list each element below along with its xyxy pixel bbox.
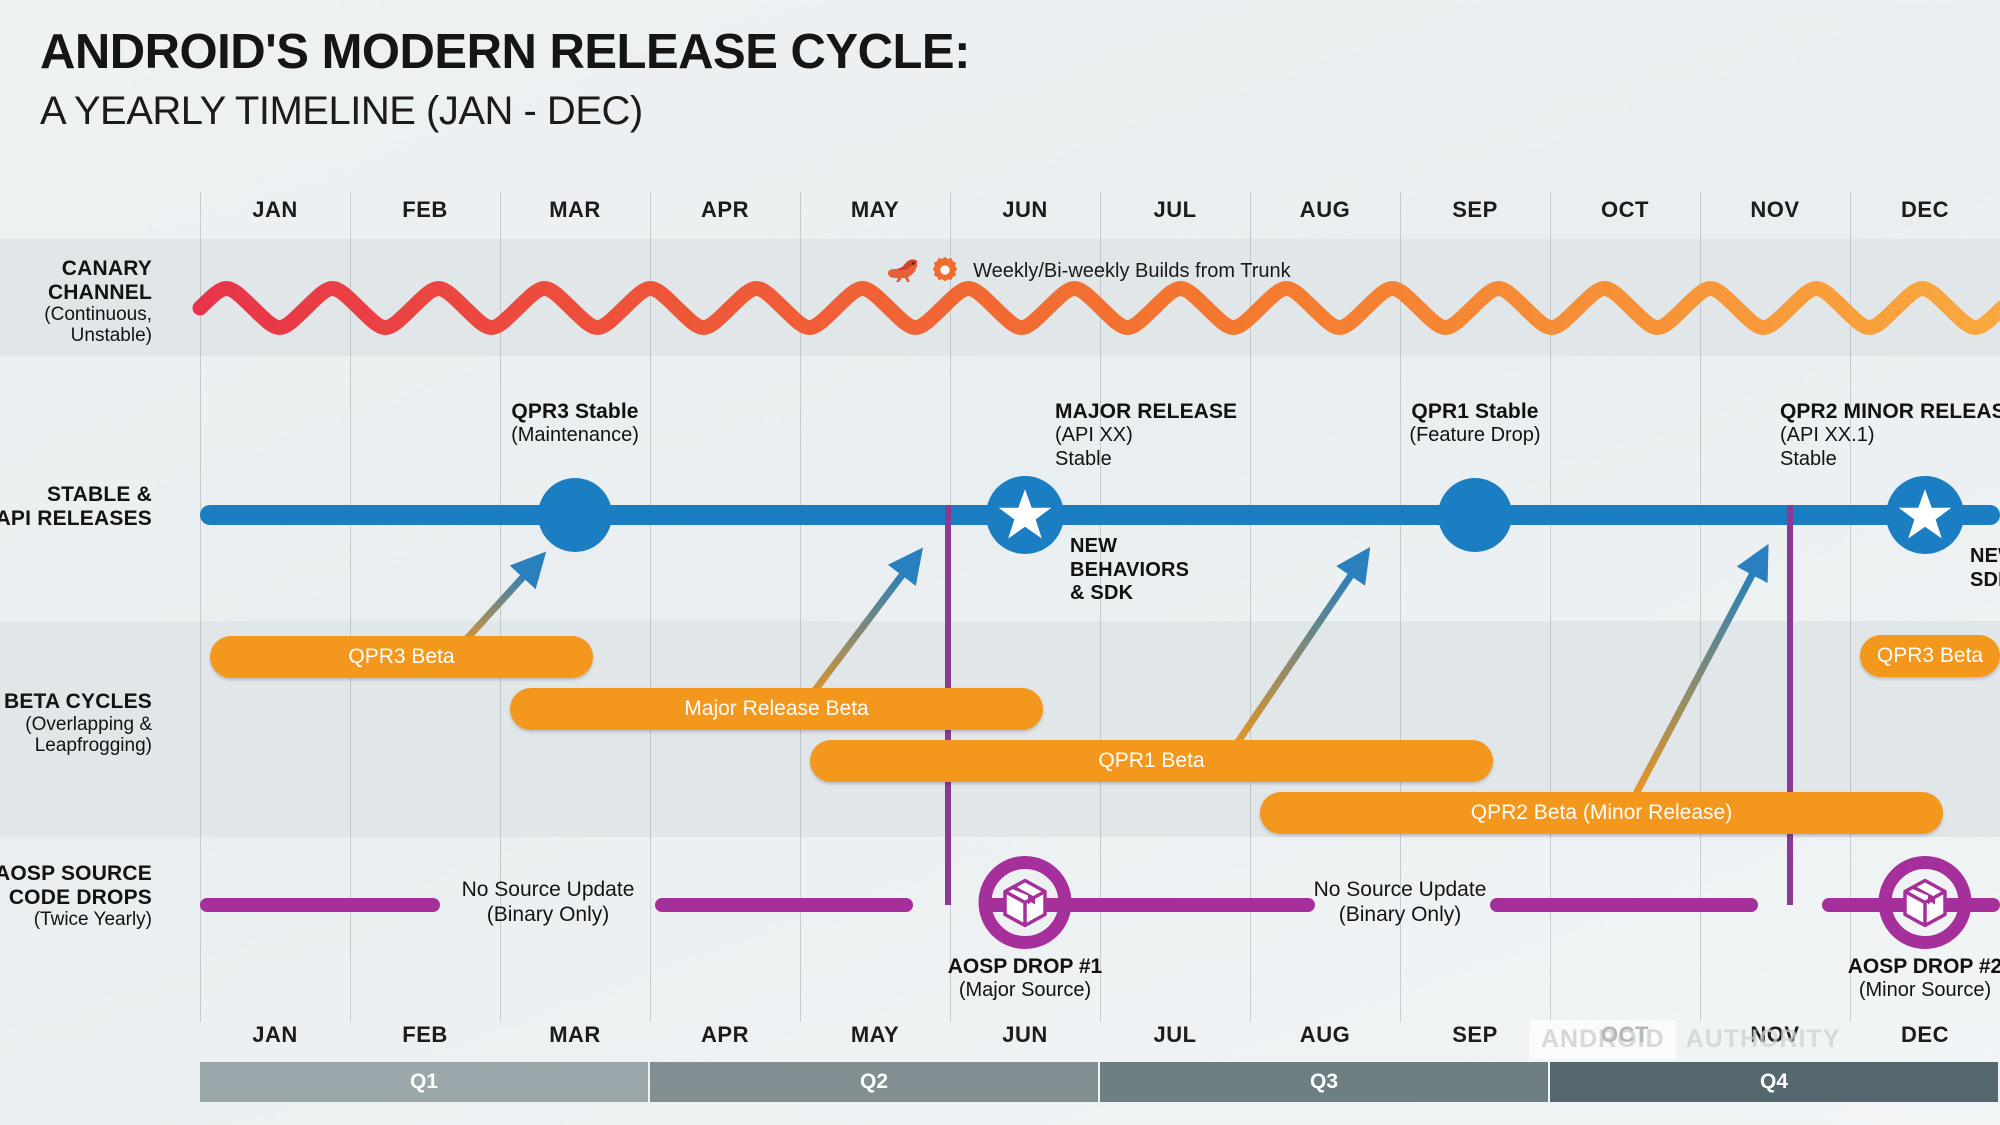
aosp-drop-sub-aosp-drop-1: (Major Source)	[948, 979, 1102, 1002]
aosp-gap-note-1-line2: (Binary Only)	[462, 903, 635, 928]
stable-node-qpr3-stable[interactable]	[538, 478, 612, 552]
stable-node-sub-qpr2-minor-release: (API XX.1)	[1780, 424, 2000, 447]
aosp-drop-sub-aosp-drop-2: (Minor Source)	[1848, 979, 2000, 1002]
month-label-bottom-aug-7: AUG	[1300, 1022, 1350, 1048]
canary-label-sub1: (Continuous,	[0, 304, 152, 325]
quarter-label: Q3	[1310, 1070, 1338, 1094]
beta-bar-qpr1-beta[interactable]: QPR1 Beta	[810, 740, 1493, 782]
aosp-drop-title-aosp-drop-2: AOSP DROP #2	[1848, 955, 2000, 979]
month-label-top-jun-5: JUN	[1002, 197, 1048, 223]
beta-bar-label: Major Release Beta	[684, 697, 868, 721]
package-box-icon	[1878, 856, 1972, 950]
stable-node-sub-qpr3-stable: (Maintenance)	[511, 424, 639, 447]
month-label-top-jul-6: JUL	[1153, 197, 1196, 223]
quarter-segment-q2: Q2	[650, 1062, 1098, 1102]
stable-node-label-qpr2-minor-release: QPR2 MINOR RELEASE(API XX.1)Stable	[1780, 400, 2000, 471]
canary-label-line1: CANARY	[0, 257, 152, 281]
star-icon	[997, 487, 1053, 543]
aosp-segment-1	[200, 898, 440, 912]
row-label-aosp: AOSP SOURCE CODE DROPS (Twice Yearly)	[0, 862, 152, 930]
beta-bar-label: QPR2 Beta (Minor Release)	[1471, 801, 1732, 825]
page-title-block: ANDROID'S MODERN RELEASE CYCLE: A YEARLY…	[40, 28, 970, 131]
stable-node-label-qpr1-stable: QPR1 Stable(Feature Drop)	[1409, 400, 1540, 448]
stable-timeline-track	[200, 505, 2000, 525]
month-label-top-feb-1: FEB	[402, 197, 448, 223]
stable-node-label-qpr3-stable: QPR3 Stable(Maintenance)	[511, 400, 639, 448]
quarter-segment-q1: Q1	[200, 1062, 648, 1102]
beta-bar-qpr3-beta-early[interactable]: QPR3 Beta	[210, 636, 593, 678]
package-box-icon	[978, 856, 1072, 950]
beta-bar-major-release-beta[interactable]: Major Release Beta	[510, 688, 1043, 730]
page-title: ANDROID'S MODERN RELEASE CYCLE:	[40, 28, 970, 77]
aosp-label-line1: AOSP SOURCE	[0, 862, 152, 886]
stable-node-title-qpr3-stable: QPR3 Stable	[511, 400, 639, 424]
gear-icon	[930, 255, 960, 285]
month-label-top-oct-9: OCT	[1601, 197, 1649, 223]
stable-node-sub2-qpr2-minor-release: Stable	[1780, 448, 2000, 471]
quarter-segment-q3: Q3	[1100, 1062, 1548, 1102]
beta-label-line1: BETA CYCLES	[0, 690, 152, 714]
side-note-line: BEHAVIORS	[1070, 559, 1189, 583]
quarter-label: Q2	[860, 1070, 888, 1094]
aosp-gap-note-2-line1: No Source Update	[1314, 878, 1487, 903]
month-label-top-mar-2: MAR	[549, 197, 601, 223]
stable-node-label-major-release: MAJOR RELEASE(API XX)Stable	[1055, 400, 1237, 471]
stable-node-qpr1-stable[interactable]	[1438, 478, 1512, 552]
quarter-label: Q4	[1760, 1070, 1788, 1094]
month-label-bottom-sep-8: SEP	[1452, 1022, 1498, 1048]
aosp-drop-caption-aosp-drop-2: AOSP DROP #2(Minor Source)	[1848, 955, 2000, 1003]
aosp-label-line2: CODE DROPS	[0, 886, 152, 910]
bird-icon	[886, 257, 920, 283]
page-subtitle: A YEARLY TIMELINE (JAN - DEC)	[40, 91, 970, 131]
month-label-top-jan-0: JAN	[252, 197, 298, 223]
aosp-label-sub: (Twice Yearly)	[0, 909, 152, 930]
aosp-drop-node-aosp-drop-1[interactable]	[978, 856, 1072, 955]
beta-label-sub1: (Overlapping &	[0, 714, 152, 735]
canary-note-text: Weekly/Bi-weekly Builds from Trunk	[973, 260, 1291, 282]
month-label-bottom-mar-2: MAR	[549, 1022, 601, 1048]
stable-side-note-qpr2-minor-release: NEWSDKs	[1970, 545, 2000, 592]
month-label-bottom-jul-6: JUL	[1153, 1022, 1196, 1048]
month-label-top-apr-3: APR	[701, 197, 749, 223]
month-label-bottom-oct-9: OCT	[1601, 1022, 1649, 1048]
month-label-bottom-apr-3: APR	[701, 1022, 749, 1048]
quarter-segment-q4: Q4	[1550, 1062, 1998, 1102]
aosp-drop-node-aosp-drop-2[interactable]	[1878, 856, 1972, 955]
month-label-top-sep-8: SEP	[1452, 197, 1498, 223]
beta-bar-label: QPR3 Beta	[1877, 644, 1983, 668]
month-label-bottom-dec-11: DEC	[1901, 1022, 1949, 1048]
row-label-beta: BETA CYCLES (Overlapping & Leapfrogging)	[0, 690, 152, 756]
stable-label-line1: STABLE &	[0, 483, 152, 507]
star-icon	[1897, 487, 1953, 543]
aosp-gap-note-1-line1: No Source Update	[462, 878, 635, 903]
month-label-bottom-nov-10: NOV	[1750, 1022, 1799, 1048]
month-label-top-aug-7: AUG	[1300, 197, 1350, 223]
stable-node-title-major-release: MAJOR RELEASE	[1055, 400, 1237, 424]
aosp-drop-title-aosp-drop-1: AOSP DROP #1	[948, 955, 1102, 979]
month-axis-bottom: JANFEBMARAPRMAYJUNJULAUGSEPOCTNOVDECJAN	[0, 1022, 2000, 1052]
stable-node-title-qpr2-minor-release: QPR2 MINOR RELEASE	[1780, 400, 2000, 424]
month-label-top-dec-11: DEC	[1901, 197, 1949, 223]
aosp-drop-caption-aosp-drop-1: AOSP DROP #1(Major Source)	[948, 955, 1102, 1003]
row-label-canary: CANARY CHANNEL (Continuous, Unstable)	[0, 257, 152, 347]
canary-label-line2: CHANNEL	[0, 281, 152, 305]
month-axis-top: JANFEBMARAPRMAYJUNJULAUGSEPOCTNOVDEC	[0, 197, 2000, 227]
month-label-bottom-feb-1: FEB	[402, 1022, 448, 1048]
quarter-label: Q1	[410, 1070, 438, 1094]
month-label-bottom-jun-5: JUN	[1002, 1022, 1048, 1048]
side-note-line: NEW	[1070, 535, 1189, 559]
aosp-segment-4	[1490, 898, 1758, 912]
stable-side-note-major-release: NEWBEHAVIORS& SDK	[1070, 535, 1189, 606]
stable-node-title-qpr1-stable: QPR1 Stable	[1409, 400, 1540, 424]
stable-node-sub2-major-release: Stable	[1055, 448, 1237, 471]
canary-label-sub2: Unstable)	[0, 325, 152, 346]
month-label-top-may-4: MAY	[851, 197, 899, 223]
side-note-line: & SDK	[1070, 582, 1189, 606]
side-note-line: NEW	[1970, 545, 2000, 569]
beta-bar-qpr2-beta[interactable]: QPR2 Beta (Minor Release)	[1260, 792, 1943, 834]
aosp-gap-note-2-line2: (Binary Only)	[1314, 903, 1487, 928]
stable-node-sub-qpr1-stable: (Feature Drop)	[1409, 424, 1540, 447]
month-label-bottom-jan-0: JAN	[252, 1022, 298, 1048]
row-label-stable: STABLE & API RELEASES	[0, 483, 152, 530]
stable-node-sub-major-release: (API XX)	[1055, 424, 1237, 447]
aosp-gap-note-1: No Source Update (Binary Only)	[462, 878, 635, 928]
month-label-top-nov-10: NOV	[1750, 197, 1799, 223]
beta-bar-label: QPR3 Beta	[348, 645, 454, 669]
beta-bar-label: QPR1 Beta	[1098, 749, 1204, 773]
beta-label-sub2: Leapfrogging)	[0, 735, 152, 756]
side-note-line: SDKs	[1970, 569, 2000, 593]
month-label-bottom-may-4: MAY	[851, 1022, 899, 1048]
stable-label-line2: API RELEASES	[0, 507, 152, 531]
canary-note-block: Weekly/Bi-weekly Builds from Trunk	[886, 255, 1291, 285]
aosp-segment-2	[655, 898, 913, 912]
aosp-gap-note-2: No Source Update (Binary Only)	[1314, 878, 1487, 928]
beta-bar-qpr3-beta-late[interactable]: QPR3 Beta	[1860, 635, 2000, 677]
